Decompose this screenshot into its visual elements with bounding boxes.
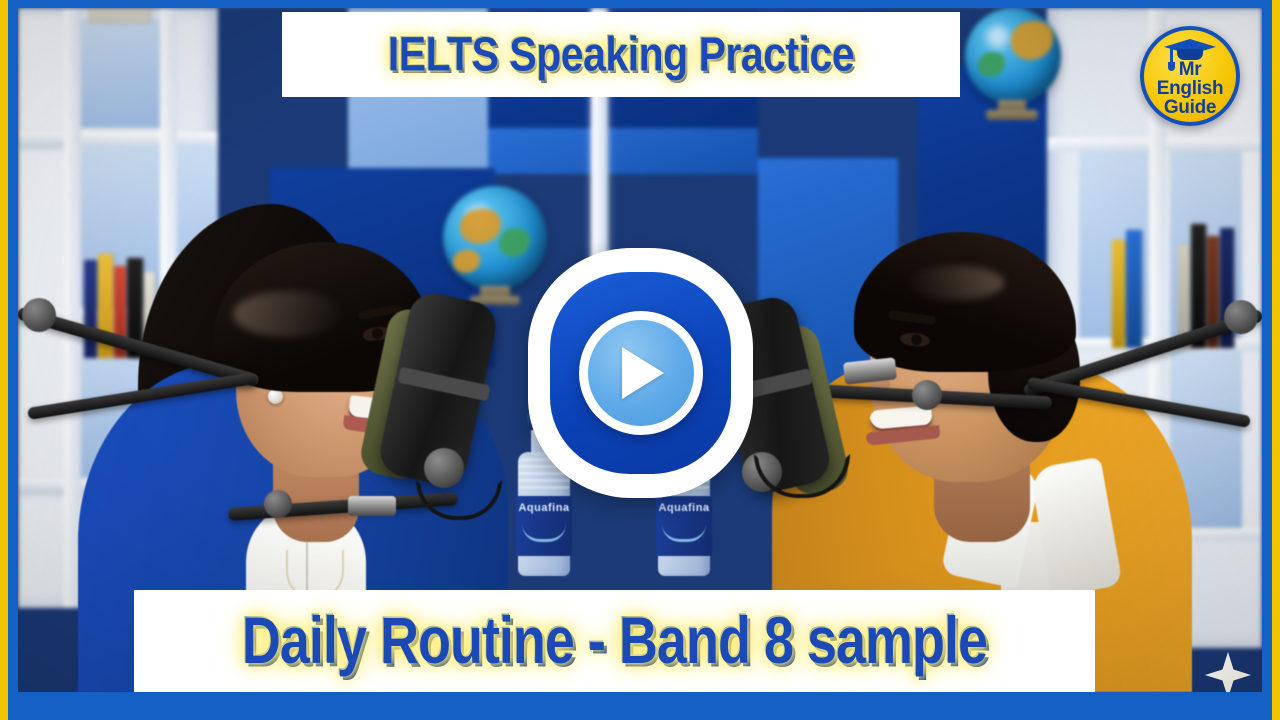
play-triangle-icon [622,347,664,399]
mic-left-joint2 [264,490,292,518]
logo-line-2: English [1157,79,1224,98]
play-button-circle[interactable] [579,311,703,435]
male-hair-highlight [908,266,1004,300]
female-hair-highlight [233,291,343,337]
male-hair-top [854,232,1076,372]
mic-boom-right-joint [1224,300,1258,334]
episode-title: Daily Routine - Band 8 sample [242,603,987,679]
bottle-label-left: Aquafina [516,496,572,556]
youtube-thumbnail: Aquafina Aquafina [0,0,1280,720]
bottle-label-text-2: Aquafina [656,502,712,514]
logo-line-3: Guide [1164,98,1216,117]
logo-line-1: Mr [1179,60,1202,79]
mic-left-clamp [348,496,396,516]
bottle-label-right: Aquafina [656,496,712,556]
bottom-title-banner: Daily Routine - Band 8 sample [134,590,1095,692]
top-title-banner: IELTS Speaking Practice [282,12,960,97]
mic-right-joint2 [912,380,942,410]
bottle-label-text: Aquafina [516,502,572,514]
graduation-cap-icon [1164,37,1216,59]
play-button[interactable] [528,248,753,498]
channel-logo-badge[interactable]: Mr English Guide [1140,26,1240,126]
page-title: IELTS Speaking Practice [388,27,854,82]
mic-boom-left-joint [22,298,56,332]
